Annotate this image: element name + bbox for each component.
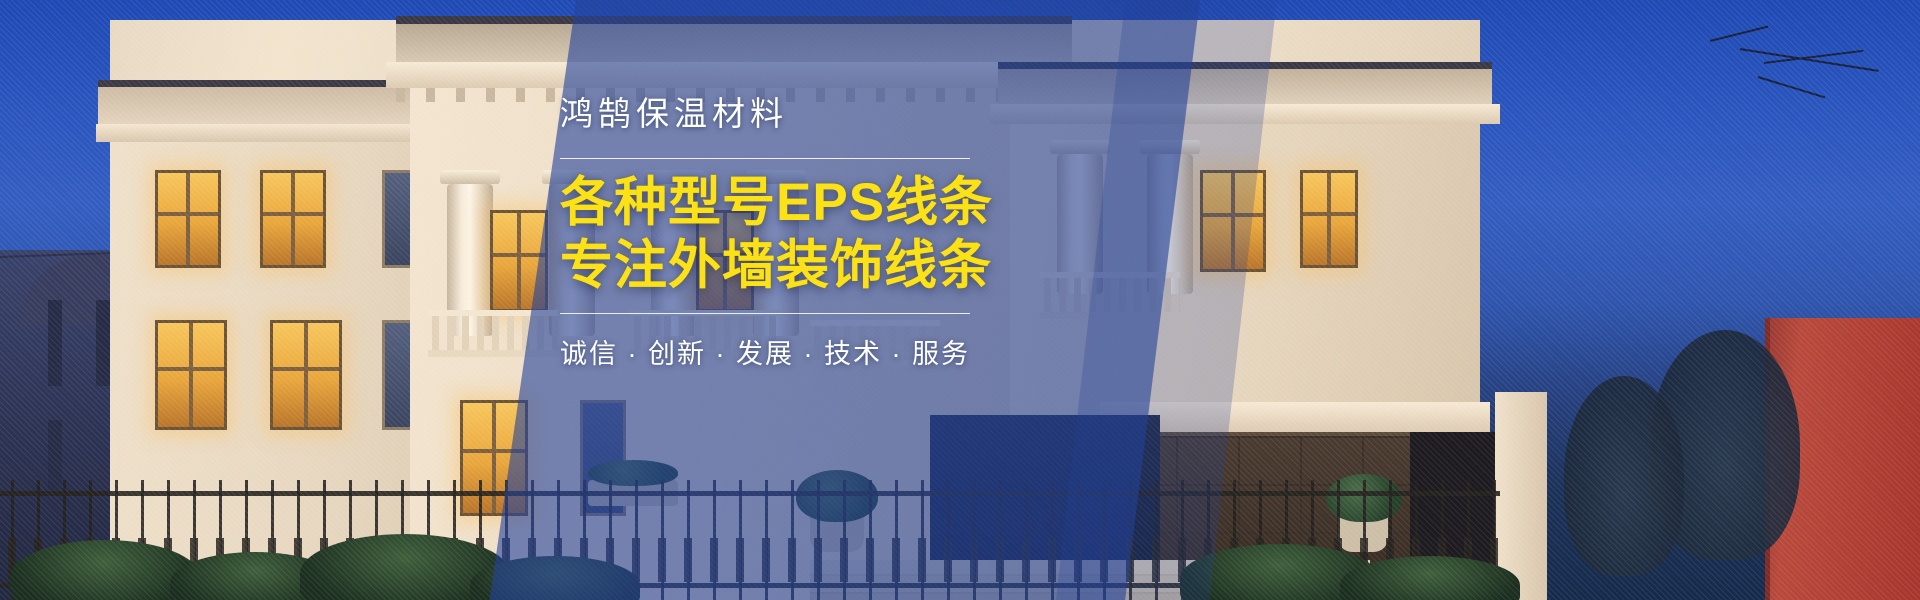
tree-right-near <box>1564 376 1684 576</box>
banner-text-block: 鸿鹄保温材料 各种型号EPS线条 专注外墙装饰线条 诚信 · 创新 · 发展 ·… <box>560 96 990 371</box>
divider-top <box>560 158 970 159</box>
brand-name: 鸿鹄保温材料 <box>560 96 990 132</box>
tagline: 诚信 · 创新 · 发展 · 技术 · 服务 <box>560 332 990 371</box>
hero-banner: 鸿鹄保温材料 各种型号EPS线条 专注外墙装饰线条 诚信 · 创新 · 发展 ·… <box>0 0 1920 600</box>
headline-line-2: 专注外墙装饰线条 <box>560 234 990 297</box>
divider-bottom <box>560 313 970 314</box>
headline-line-1: 各种型号EPS线条 <box>560 171 990 234</box>
